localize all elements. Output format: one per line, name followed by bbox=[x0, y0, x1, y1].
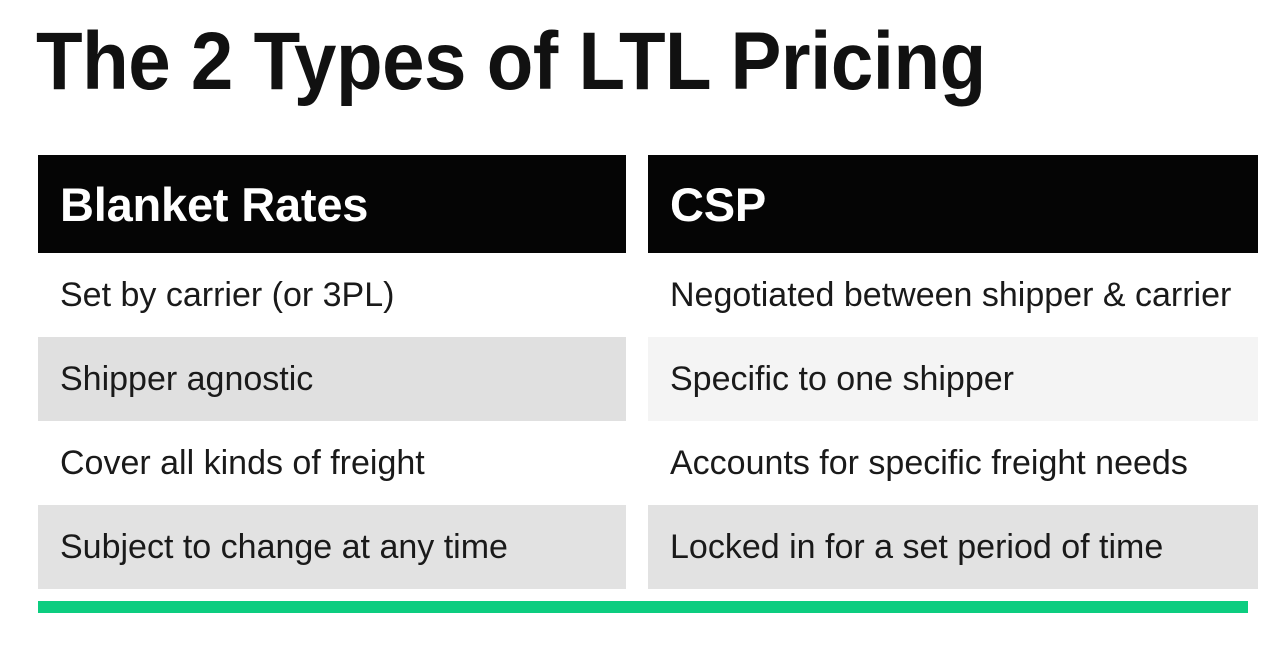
table-header-row: Blanket Rates CSP bbox=[38, 155, 1248, 253]
comparison-table: Blanket Rates CSP Set by carrier (or 3PL… bbox=[38, 155, 1248, 589]
cell-csp-4: Locked in for a set period of time bbox=[648, 505, 1258, 589]
column-header-csp: CSP bbox=[648, 155, 1258, 253]
slide-root: The 2 Types of LTL Pricing Blanket Rates… bbox=[0, 0, 1280, 668]
cell-blanket-rates-4: Subject to change at any time bbox=[38, 505, 626, 589]
accent-bar bbox=[38, 601, 1248, 613]
cell-blanket-rates-2: Shipper agnostic bbox=[38, 337, 626, 421]
column-divider bbox=[626, 337, 648, 421]
cell-blanket-rates-1: Set by carrier (or 3PL) bbox=[38, 253, 626, 337]
column-header-blanket-rates: Blanket Rates bbox=[38, 155, 626, 253]
cell-csp-2: Specific to one shipper bbox=[648, 337, 1258, 421]
table-row: Cover all kinds of freight Accounts for … bbox=[38, 421, 1248, 505]
column-divider bbox=[626, 505, 648, 589]
column-divider bbox=[626, 155, 648, 253]
cell-csp-3: Accounts for specific freight needs bbox=[648, 421, 1258, 505]
column-divider bbox=[626, 253, 648, 337]
cell-blanket-rates-3: Cover all kinds of freight bbox=[38, 421, 626, 505]
cell-csp-1: Negotiated between shipper & carrier bbox=[648, 253, 1258, 337]
page-title: The 2 Types of LTL Pricing bbox=[36, 14, 1152, 110]
table-row: Subject to change at any time Locked in … bbox=[38, 505, 1248, 589]
column-divider bbox=[626, 421, 648, 505]
table-row: Set by carrier (or 3PL) Negotiated betwe… bbox=[38, 253, 1248, 337]
table-row: Shipper agnostic Specific to one shipper bbox=[38, 337, 1248, 421]
